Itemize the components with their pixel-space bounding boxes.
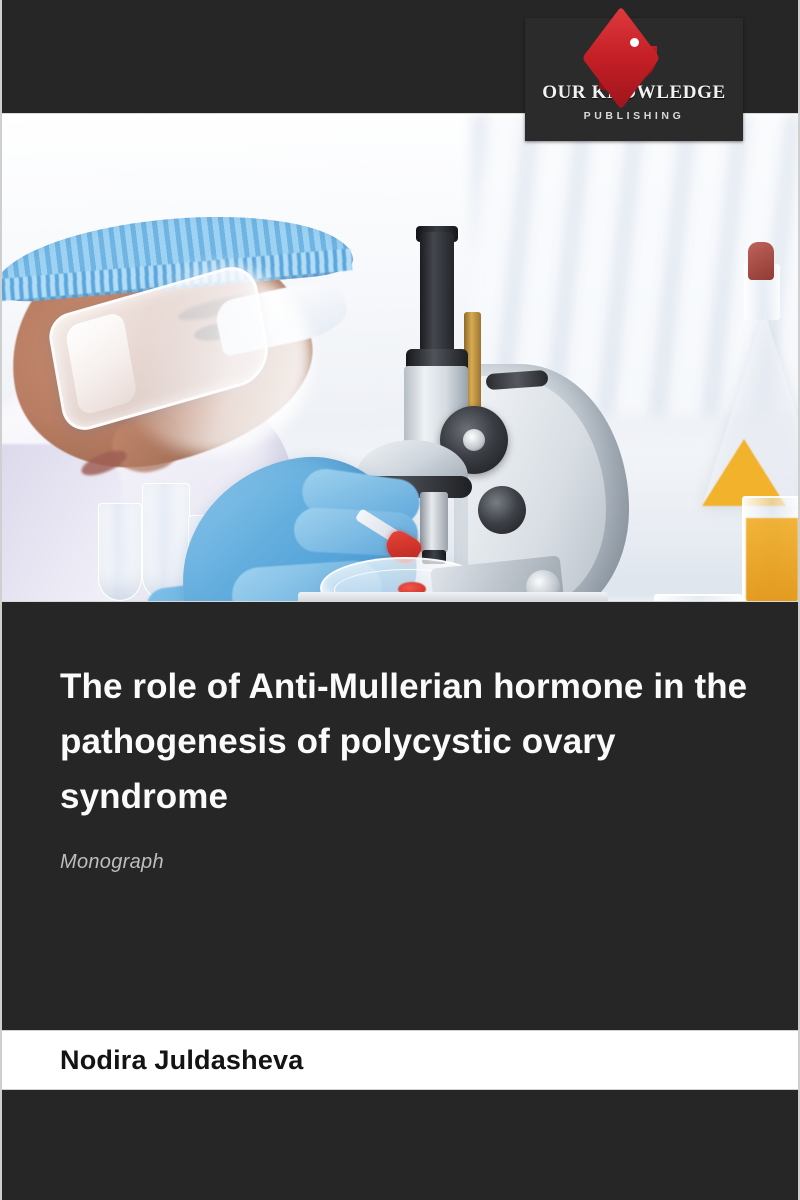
photo-inner bbox=[2, 114, 800, 601]
title-block: The role of Anti-Mullerian hormone in th… bbox=[60, 660, 760, 874]
book-title: The role of Anti-Mullerian hormone in th… bbox=[60, 660, 760, 825]
cover-photo bbox=[2, 113, 800, 602]
test-tube bbox=[98, 503, 142, 601]
author-name: Nodira Juldasheva bbox=[60, 1045, 304, 1076]
beaker-yellow-liquid bbox=[746, 518, 798, 601]
book-cover: OUR KNOWLEDGE PUBLISHING The role of Ant… bbox=[0, 0, 800, 1200]
cap-button bbox=[630, 38, 639, 47]
beaker-small bbox=[654, 594, 742, 601]
publisher-tagline: PUBLISHING bbox=[584, 110, 685, 122]
book-subtitle: Monograph bbox=[60, 851, 760, 874]
fine-focus-knob bbox=[478, 486, 526, 534]
objective-lens bbox=[420, 492, 448, 554]
face-highlight bbox=[112, 264, 312, 454]
flask-red-stopper bbox=[748, 242, 774, 280]
microscope-stage-top bbox=[298, 592, 608, 601]
microscope-eyepiece bbox=[420, 232, 454, 357]
publisher-logo: OUR KNOWLEDGE PUBLISHING bbox=[525, 18, 743, 141]
graduation-cap-icon bbox=[575, 24, 693, 80]
author-band: Nodira Juldasheva bbox=[2, 1030, 800, 1090]
